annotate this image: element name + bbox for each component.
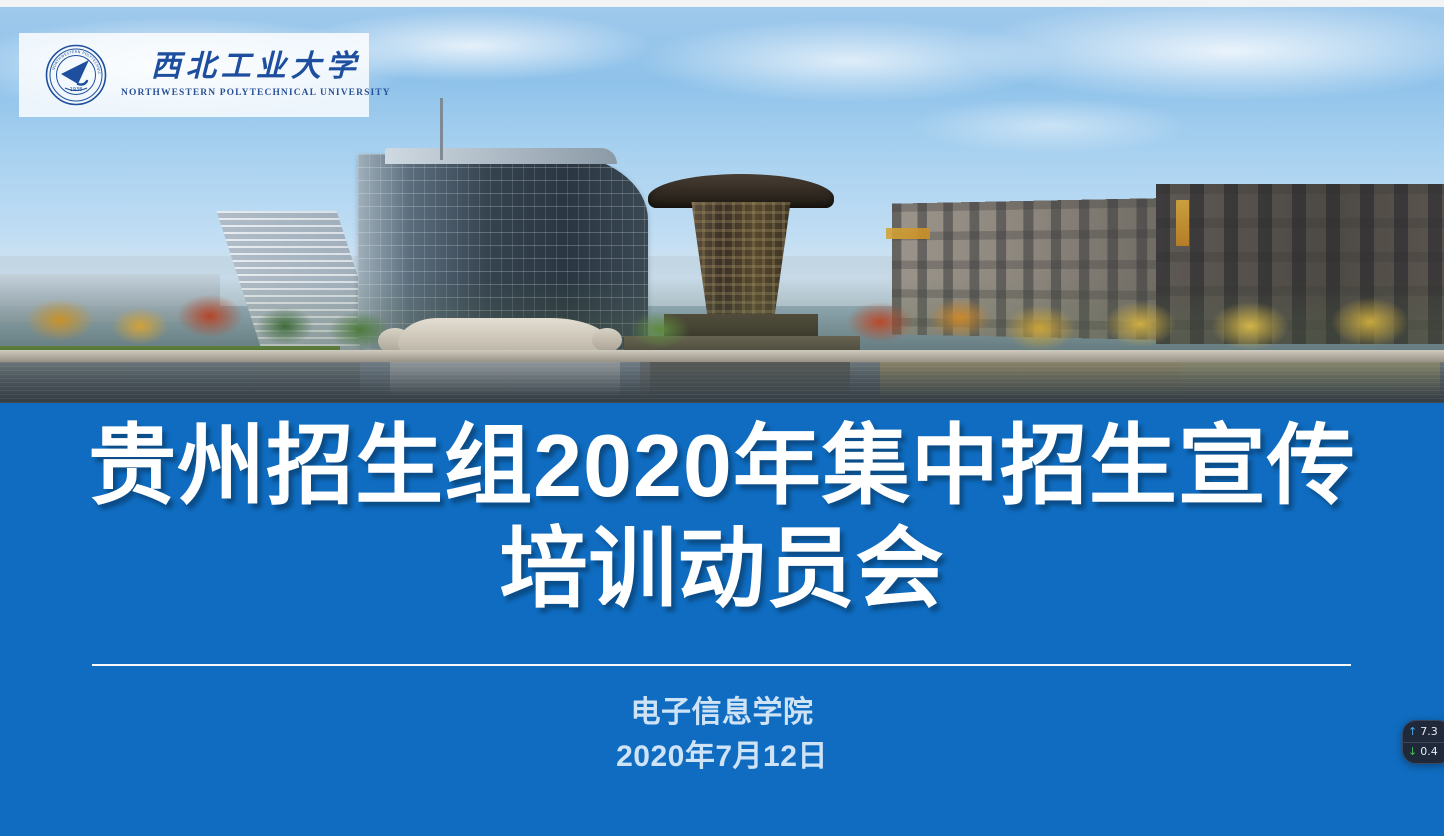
- building-sign-right: [1176, 200, 1189, 246]
- arrow-up-icon: ↑: [1408, 725, 1417, 739]
- recumbent-stone-sculpture: [398, 318, 610, 352]
- university-name-en: NORTHWESTERN POLYTECHNICAL UNIVERSITY: [121, 88, 391, 98]
- presentation-slide: 1938 NORTHWESTERN POLYTECHNICAL UNIV 西北工…: [0, 0, 1444, 836]
- stone-sculpture-right-end: [592, 328, 622, 352]
- npu-seal-emblem-icon: 1938 NORTHWESTERN POLYTECHNICAL UNIV: [45, 44, 107, 106]
- university-name-block: 西北工业大学 NORTHWESTERN POLYTECHNICAL UNIVER…: [121, 52, 391, 98]
- title-line-1: 贵州招生组2020年集中招生宣传: [0, 415, 1444, 518]
- svg-text:1938: 1938: [70, 87, 83, 93]
- title-line-2: 培训动员会: [0, 518, 1444, 621]
- slide-title: 贵州招生组2020年集中招生宣传 培训动员会: [0, 415, 1444, 621]
- network-speed-widget[interactable]: ↑ 7.3 ↓ 0.4: [1402, 720, 1444, 764]
- download-speed-value: 0.4: [1420, 745, 1438, 759]
- title-divider: [92, 664, 1351, 666]
- subtitle-date: 2020年7月12日: [0, 735, 1444, 779]
- autumn-tree-row: [0, 278, 1444, 356]
- slide-subtitle: 电子信息学院 2020年7月12日: [0, 691, 1444, 778]
- water-reflections: [0, 362, 1444, 404]
- download-speed-row: ↓ 0.4: [1403, 742, 1444, 760]
- glass-building-roof: [385, 148, 617, 164]
- arrow-down-icon: ↓: [1408, 745, 1417, 759]
- upload-speed-row: ↑ 7.3: [1403, 724, 1444, 740]
- subtitle-organization: 电子信息学院: [0, 691, 1444, 735]
- slide-content-area: 贵州招生组2020年集中招生宣传 培训动员会 电子信息学院 2020年7月12日: [0, 403, 1444, 836]
- university-name-cn: 西北工业大学: [151, 52, 361, 82]
- upload-speed-value: 7.3: [1420, 725, 1438, 739]
- top-strip: [0, 0, 1444, 7]
- university-logo-panel: 1938 NORTHWESTERN POLYTECHNICAL UNIV 西北工…: [19, 33, 369, 117]
- flag-mast: [440, 98, 443, 160]
- building-sign-left: [886, 228, 930, 239]
